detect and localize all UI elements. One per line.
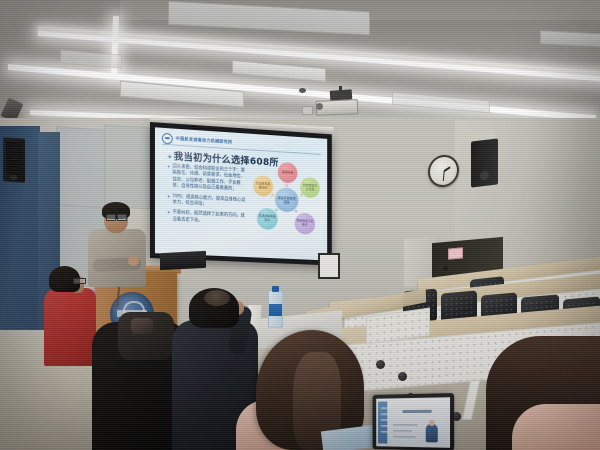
slide-bubble-diagram: 薪酬待遇 行业前景发展空间 社会地位与认可度 生活成本住房压力 家庭因素子女教育… bbox=[252, 159, 322, 239]
audience-head bbox=[204, 290, 230, 306]
board-knob-icon bbox=[443, 266, 448, 271]
ceiling bbox=[0, 0, 600, 132]
webcam-icon bbox=[408, 393, 413, 397]
bubble-center-node: 综合评估考虑因素 bbox=[275, 187, 298, 213]
bubble-node: 社会地位与认可度 bbox=[300, 177, 320, 198]
bullet-text: 回头来看，就会知道取舍的三个字：要能胜任、待遇、前景要求、社会地位、住房、父母养… bbox=[173, 164, 249, 194]
laptop-screen[interactable] bbox=[376, 397, 450, 448]
bullet-marker-icon: ✦ bbox=[167, 193, 171, 206]
laptop[interactable] bbox=[373, 393, 455, 450]
bullet-marker-icon: ✦ bbox=[167, 164, 171, 190]
bubble-node: 行业前景发展空间 bbox=[253, 175, 273, 197]
water-bottle[interactable] bbox=[268, 290, 283, 328]
bubble-node: 生活成本住房压力 bbox=[257, 208, 278, 231]
speaker-icon bbox=[3, 137, 25, 183]
app-sidebar[interactable] bbox=[378, 401, 387, 443]
slide-bullet-item: ✦ 回头来看，就会知道取舍的三个字：要能胜任、待遇、前景要求、社会地位、住房、父… bbox=[167, 164, 248, 194]
slide-org-name: 中国航发湖南动力机械研究所 bbox=[176, 136, 233, 146]
bullet-text: 不要纠结，既然选择了此来的方向，就沿着去走下去。 bbox=[173, 210, 249, 226]
title-bullet-icon: ✦ bbox=[167, 153, 173, 161]
table-caster-icon bbox=[398, 372, 407, 381]
app-title-bar bbox=[402, 410, 431, 413]
conference-room-photo: 中国航发湖南动力机械研究所 ✦我当初为什么选择608所 ✦ 回头来看，就会知道取… bbox=[0, 0, 600, 450]
bullet-text: TIPS：提高核心能力，提高自身核心竞争力，综合评估； bbox=[173, 194, 249, 211]
glasses-icon bbox=[73, 278, 86, 284]
projection-screen: 中国航发湖南动力机械研究所 ✦我当初为什么选择608所 ✦ 回头来看，就会知道取… bbox=[150, 122, 332, 265]
board-label bbox=[448, 247, 463, 259]
app-text-line bbox=[393, 436, 416, 438]
picture-frame-icon bbox=[318, 253, 340, 279]
ceiling-speaker-icon bbox=[302, 106, 313, 115]
podium-laptop[interactable] bbox=[160, 251, 206, 270]
app-text-line bbox=[393, 430, 412, 432]
user-avatar-icon bbox=[426, 424, 438, 442]
projector-lens-icon bbox=[316, 103, 323, 110]
bag-strap bbox=[131, 318, 153, 334]
app-text-line bbox=[393, 424, 418, 426]
slide-bullet-item: ✦ TIPS：提高核心能力，提高自身核心竞争力，综合评估； bbox=[167, 193, 248, 210]
audience-pink-top bbox=[512, 404, 600, 450]
acoustic-wall-panel bbox=[56, 126, 106, 209]
table-caster-icon bbox=[376, 360, 385, 369]
bubble-node: 家庭因素子女教育 bbox=[295, 212, 316, 234]
presenter-hand bbox=[128, 256, 139, 266]
company-logo-icon bbox=[162, 132, 173, 144]
smoke-detector-icon bbox=[299, 88, 306, 93]
presentation-slide: 中国航发湖南动力机械研究所 ✦我当初为什么选择608所 ✦ 回头来看，就会知道取… bbox=[155, 127, 327, 260]
speaker-icon bbox=[471, 138, 498, 187]
bullet-marker-icon: ✦ bbox=[167, 210, 171, 223]
slide-bullet-list: ✦ 回头来看，就会知道取舍的三个字：要能胜任、待遇、前景要求、社会地位、住房、父… bbox=[167, 164, 248, 231]
acoustic-wall-panel bbox=[104, 125, 150, 209]
audience-torso bbox=[44, 288, 96, 366]
glasses-icon bbox=[106, 214, 126, 219]
bubble-node: 薪酬待遇 bbox=[278, 162, 298, 184]
slide-bullet-item: ✦ 不要纠结，既然选择了此来的方向，就沿着去走下去。 bbox=[167, 210, 248, 227]
